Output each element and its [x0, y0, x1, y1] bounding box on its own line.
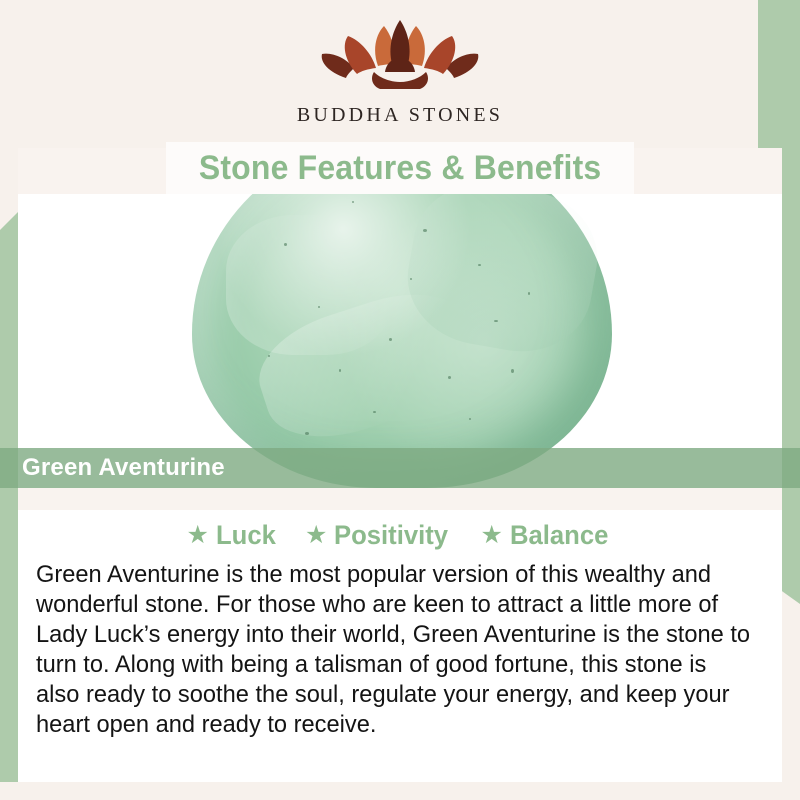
stone-facet	[226, 215, 394, 355]
page-title: Stone Features & Benefits	[199, 149, 602, 188]
keyword-label: Luck	[216, 520, 276, 551]
panel-mid-strip	[18, 488, 782, 510]
keyword-item-balance: ★ Balance	[480, 520, 613, 551]
keyword-label: Balance	[510, 520, 608, 551]
keyword-list: ★ Luck ★ Positivity ★ Balance	[18, 516, 782, 554]
brand-wordmark: BUDDHA STONES	[297, 104, 503, 127]
star-icon: ★	[187, 523, 209, 548]
aventurine-stone-image	[192, 194, 612, 488]
star-icon: ★	[480, 523, 502, 548]
lotus-meditation-figure-icon	[312, 16, 488, 102]
stone-name-label: Green Aventurine	[22, 454, 225, 482]
brand-header: BUDDHA STONES	[0, 0, 800, 148]
keyword-item-positivity: ★ Positivity	[305, 520, 454, 551]
section-title-box: Stone Features & Benefits	[166, 142, 634, 194]
infographic-root: BUDDHA STONES Stone Features & Benefits	[0, 0, 800, 800]
stone-photo	[18, 194, 782, 490]
keyword-label: Positivity	[334, 520, 448, 551]
stone-facet	[398, 194, 608, 363]
keyword-item-luck: ★ Luck	[187, 520, 279, 551]
description-paragraph: Green Aventurine is the most popular ver…	[36, 560, 752, 740]
stone-name-band: Green Aventurine	[0, 448, 800, 488]
star-icon: ★	[305, 523, 327, 548]
stone-facet	[246, 275, 490, 456]
